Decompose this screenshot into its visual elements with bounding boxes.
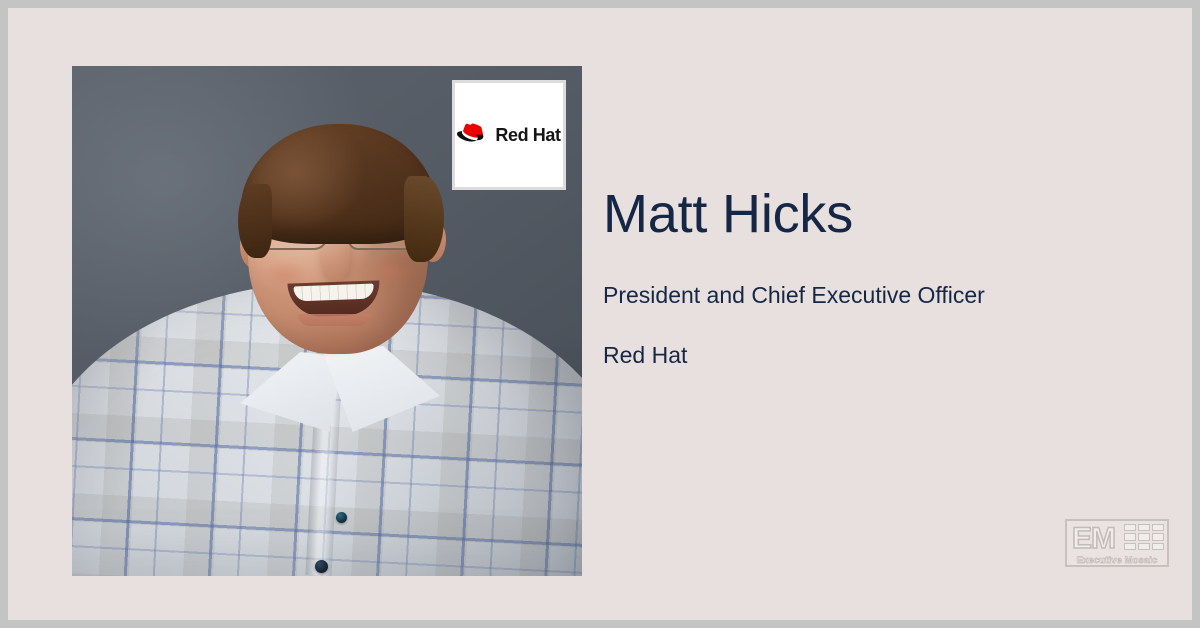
mosaic-cell — [1124, 533, 1136, 540]
red-hat-logo-badge: Red Hat — [452, 80, 566, 190]
mosaic-cell — [1152, 543, 1164, 550]
profile-details: Matt Hicks President and Chief Executive… — [603, 186, 1143, 370]
executive-mosaic-watermark: EM Executive Mosaic — [1065, 519, 1169, 567]
portrait-photo: Red Hat — [72, 66, 582, 576]
portrait-hair-side-right — [404, 176, 444, 262]
person-company: Red Hat — [603, 309, 1143, 370]
mosaic-cell — [1138, 533, 1150, 540]
portrait-shirt-button-lower — [315, 560, 328, 573]
portrait-teeth — [294, 284, 374, 302]
person-name: Matt Hicks — [603, 186, 1143, 243]
red-hat-wordmark: Red Hat — [495, 126, 560, 144]
portrait-chin — [296, 324, 374, 358]
portrait-shirt-button-top — [336, 512, 347, 523]
red-hat-fedora-icon — [457, 123, 491, 147]
red-hat-lockup: Red Hat — [457, 123, 560, 147]
mosaic-grid-icon — [1124, 524, 1164, 550]
mosaic-cell — [1124, 543, 1136, 550]
mosaic-cell — [1138, 543, 1150, 550]
executive-profile-card: Red Hat Matt Hicks President and Chief E… — [0, 0, 1200, 628]
mosaic-cell — [1124, 524, 1136, 531]
mosaic-cell — [1152, 533, 1164, 540]
card-canvas: Red Hat Matt Hicks President and Chief E… — [8, 8, 1192, 620]
person-job-title: President and Chief Executive Officer — [603, 243, 1143, 310]
mosaic-cell — [1152, 524, 1164, 531]
portrait-hair-side-left — [238, 184, 272, 258]
mosaic-cell — [1138, 524, 1150, 531]
watermark-label: Executive Mosaic — [1065, 555, 1169, 566]
